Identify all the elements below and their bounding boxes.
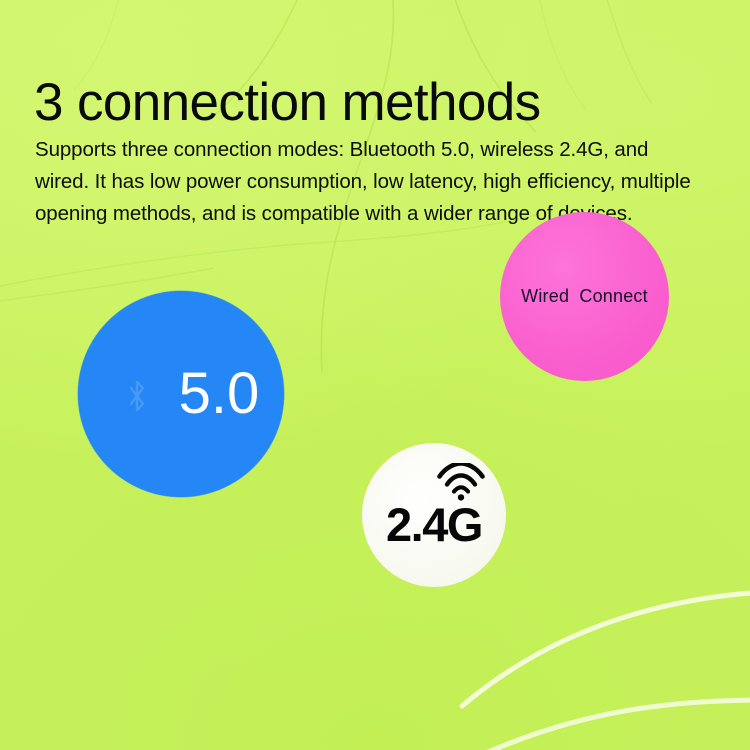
wireless-bubble: 2.4G (362, 443, 506, 587)
bluetooth-bubble: 5.0 (78, 291, 284, 497)
bluetooth-icon (126, 379, 148, 413)
bluetooth-version-label: 5.0 (154, 339, 284, 449)
wired-connect-label: Wired Connect (500, 286, 669, 307)
poster-canvas: 3 connection methods Supports three conn… (0, 0, 750, 750)
wired-bubble: Wired Connect (500, 212, 669, 381)
wifi-icon (436, 463, 486, 501)
wireless-band-label: 2.4G (362, 497, 506, 553)
page-title: 3 connection methods (34, 72, 724, 134)
